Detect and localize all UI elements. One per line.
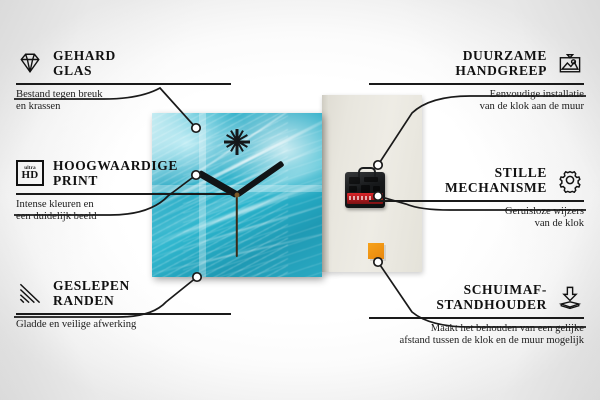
bevelled-edge-icon	[16, 280, 44, 306]
feature-description: Bestand tegen breuk en krassen	[16, 89, 231, 114]
divider	[369, 83, 584, 85]
feature-title: GEHARD GLAS	[53, 48, 116, 78]
divider	[369, 317, 584, 319]
gear-icon	[556, 167, 584, 193]
spacer-press-icon	[556, 284, 584, 310]
feature-geslepen-randen: GESLEPEN RANDEN Gladde en veilige afwerk…	[16, 278, 231, 331]
feature-duurzame-handgreep: DUURZAME HANDGREEP Eenvoudige installati…	[369, 48, 584, 113]
feature-description: Maakt het behouden van een gelijke afsta…	[369, 323, 584, 348]
infographic-canvas: GEHARD GLAS Bestand tegen breuk en krass…	[0, 0, 600, 400]
panel-left-edge	[322, 95, 329, 272]
feature-stille-mechanisme: STILLE MECHANISME Geruisloze wijzers van…	[369, 165, 584, 230]
picture-frame-icon	[556, 50, 584, 76]
divider	[16, 83, 231, 85]
divider	[16, 193, 231, 195]
feature-schuimafstandhouder: SCHUIMAF- STANDHOUDER Maakt het behouden…	[369, 282, 584, 347]
feature-description: Gladde en veilige afwerking	[16, 319, 231, 331]
feature-description: Geruisloze wijzers van de klok	[369, 206, 584, 231]
foam-spacer-pad	[368, 243, 384, 259]
feature-title: GESLEPEN RANDEN	[53, 278, 130, 308]
feature-description: Intense kleuren en een duidelijk beeld	[16, 199, 231, 224]
feature-title: STILLE MECHANISME	[445, 165, 547, 195]
clock-center-pin	[235, 193, 240, 198]
feature-hoogwaardige-print: ultraHD HOOGWAARDIGE PRINT Intense kleur…	[16, 158, 231, 223]
divider	[369, 200, 584, 202]
divider	[16, 313, 231, 315]
feature-gehard-glas: GEHARD GLAS Bestand tegen breuk en krass…	[16, 48, 231, 113]
diamond-icon	[16, 50, 44, 76]
feature-title: SCHUIMAF- STANDHOUDER	[436, 282, 547, 312]
feature-description: Eenvoudige installatie van de klok aan d…	[369, 89, 584, 114]
feature-title: HOOGWAARDIGE PRINT	[53, 158, 178, 188]
ultra-hd-icon: ultraHD	[16, 160, 44, 186]
feature-title: DUURZAME HANDGREEP	[455, 48, 547, 78]
